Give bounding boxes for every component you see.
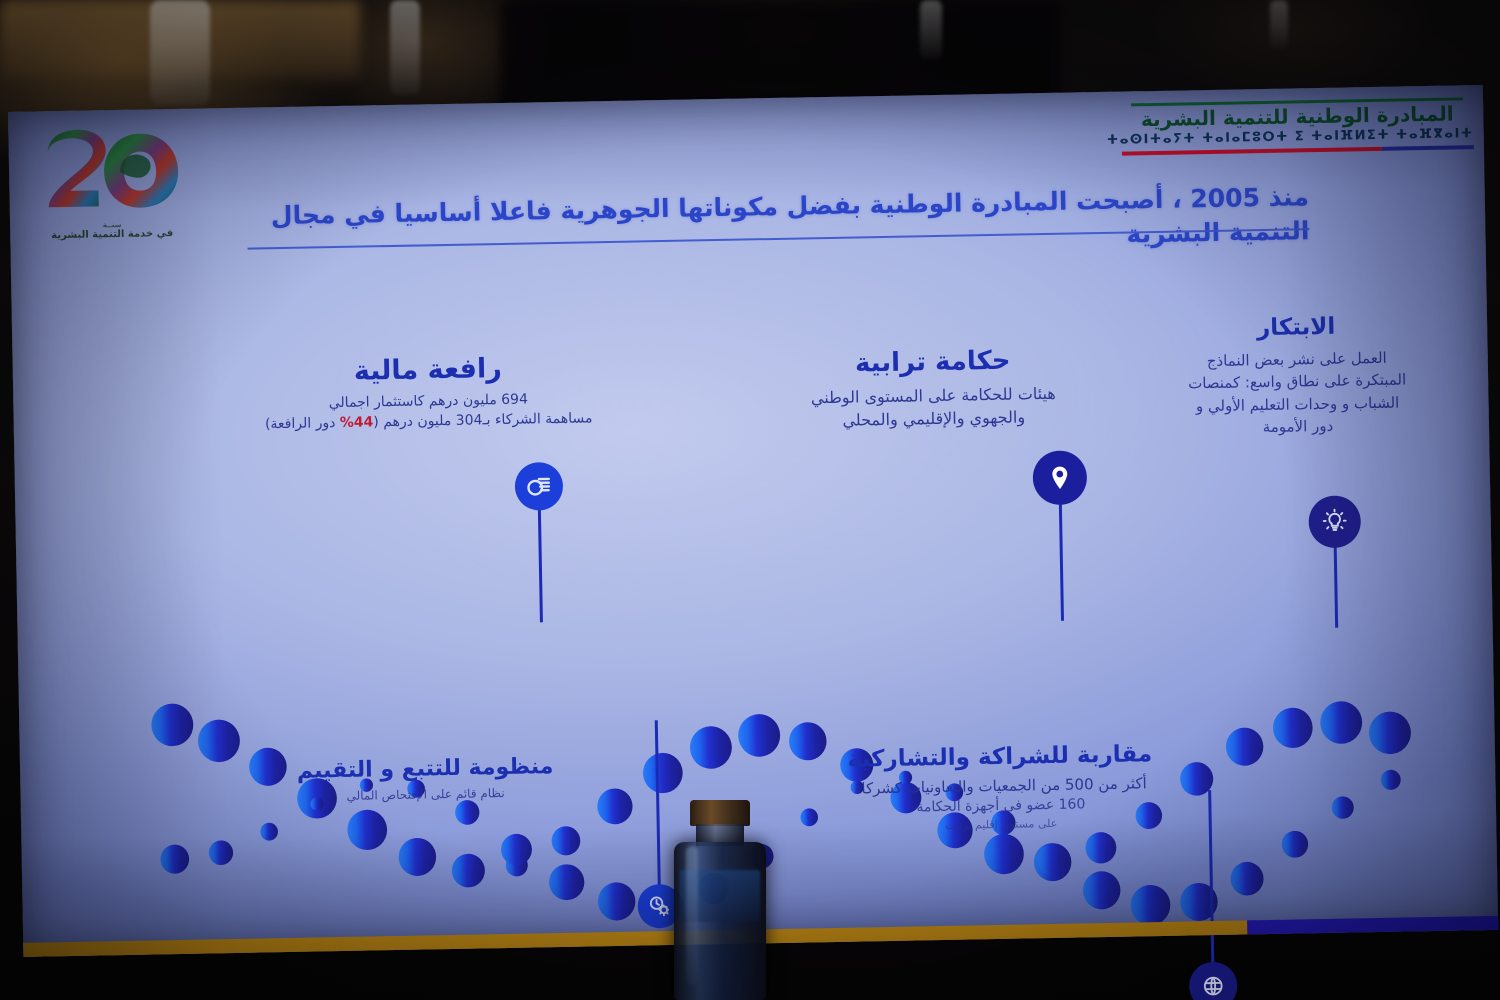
financial-lever-body: 694 مليون درهم كاستثمار اجمالي مساهمة ال… xyxy=(228,389,629,436)
innovation-heading: الابتكار xyxy=(1165,312,1427,344)
helix-node xyxy=(455,800,480,825)
financial-lever-line-2-pre: مساهمة الشركاء بـ304 مليون درهم ( xyxy=(373,411,592,431)
anniversary-caption-main: في خدمة التنمية البشرية xyxy=(51,228,173,241)
coins-glyph xyxy=(524,471,555,502)
location-pin-icon[interactable] xyxy=(1032,450,1087,505)
helix-node xyxy=(1083,871,1121,910)
helix-node xyxy=(549,864,585,900)
lightbulb-glyph xyxy=(1320,508,1349,537)
indh-bar-red xyxy=(1122,147,1383,156)
financial-lever-heading: رافعة مالية xyxy=(228,351,629,391)
bottle-cap xyxy=(690,800,750,826)
helix-node xyxy=(1281,831,1308,858)
helix-node xyxy=(347,809,387,850)
helix-node xyxy=(551,826,580,856)
helix-rung xyxy=(1245,747,1247,879)
coins-icon[interactable] xyxy=(515,462,564,511)
globe-people-icon[interactable] xyxy=(1189,962,1238,1000)
marker-stem xyxy=(1334,546,1339,628)
helix-node xyxy=(1130,885,1170,926)
financial-lever-percent: 44% xyxy=(340,415,374,432)
helix-node xyxy=(984,834,1024,875)
helix-node xyxy=(1369,711,1412,754)
marker-territorial-governance[interactable] xyxy=(1030,450,1091,621)
marker-financial-lever[interactable] xyxy=(511,462,570,623)
helix-node xyxy=(1226,727,1264,766)
marker-stem xyxy=(1059,503,1064,621)
helix-node xyxy=(597,788,633,824)
block-monitoring-evaluation: منظومة للتتبع و التقييم نظام قائم على ال… xyxy=(255,753,596,807)
lightbulb-icon[interactable] xyxy=(1308,495,1361,548)
block-territorial-governance: حكامة ترابية هيئات للحكامة على المستوى ا… xyxy=(767,344,1098,434)
helix-node xyxy=(1381,770,1401,791)
location-pin-glyph xyxy=(1046,464,1075,493)
monitoring-heading: منظومة للتتبع و التقييم xyxy=(255,753,595,786)
innovation-body: العمل على نشر بعض النماذج المبتكرة على ن… xyxy=(1166,346,1430,441)
helix-node xyxy=(690,726,733,769)
slide-title: منذ 2005 ، أصبحت المبادرة الوطنية بفضل م… xyxy=(209,180,1310,268)
block-financial-lever: رافعة مالية 694 مليون درهم كاستثمار اجما… xyxy=(228,351,629,436)
helix-node xyxy=(451,854,485,888)
block-partnership: مقاربة للشراكة والتشاركية أكثر من 500 من… xyxy=(805,740,1197,836)
helix-node xyxy=(398,838,436,877)
bottle-highlight xyxy=(686,846,698,986)
anniversary-caption: سنــة في خدمة التنمية البشرية xyxy=(28,220,196,242)
globe-people-glyph xyxy=(1199,972,1228,1000)
helix-node xyxy=(198,719,241,762)
partnership-heading: مقاربة للشراكة والتشاركية xyxy=(805,740,1195,775)
helix-node xyxy=(1332,796,1354,819)
water-bottle-foreground xyxy=(668,800,772,1000)
indh-bar-blue xyxy=(1382,145,1474,151)
photo-of-projected-slide: سنــة في خدمة التنمية البشرية المبادرة ا… xyxy=(0,0,1500,1000)
block-innovation: الابتكار العمل على نشر بعض النماذج المبت… xyxy=(1165,312,1429,440)
partnership-body: أكثر من 500 من الجمعيات والتعاونيات كشرك… xyxy=(805,772,1196,836)
helix-node xyxy=(501,834,532,866)
logo-20-mark xyxy=(35,127,187,222)
helix-node xyxy=(738,714,781,757)
helix-node xyxy=(1273,707,1313,748)
helix-node xyxy=(151,703,194,746)
anniversary-20-logo: سنــة في خدمة التنمية البشرية xyxy=(26,127,196,260)
innovation-line-4: دور الأمومة xyxy=(1167,413,1429,440)
helix-node xyxy=(209,840,234,865)
helix-node xyxy=(598,882,636,921)
marker-stem xyxy=(655,720,661,888)
governance-body: هيئات للحكامة على المستوى الوطني والجهوي… xyxy=(768,382,1099,433)
governance-heading: حكامة ترابية xyxy=(767,344,1098,381)
marker-stem xyxy=(538,508,543,622)
helix-node xyxy=(160,844,189,874)
helix-node xyxy=(1085,832,1116,864)
helix-node xyxy=(260,823,278,841)
indh-logo: المبادرة الوطنية للتنمية البشرية ⵜⴰⵙⵏⵜⴰⵢ… xyxy=(1121,97,1474,155)
financial-lever-line-2-post: دور الرافعة) xyxy=(265,415,340,432)
helix-node xyxy=(1320,701,1363,744)
marker-innovation[interactable] xyxy=(1305,495,1365,626)
marker-stem xyxy=(1208,790,1214,968)
